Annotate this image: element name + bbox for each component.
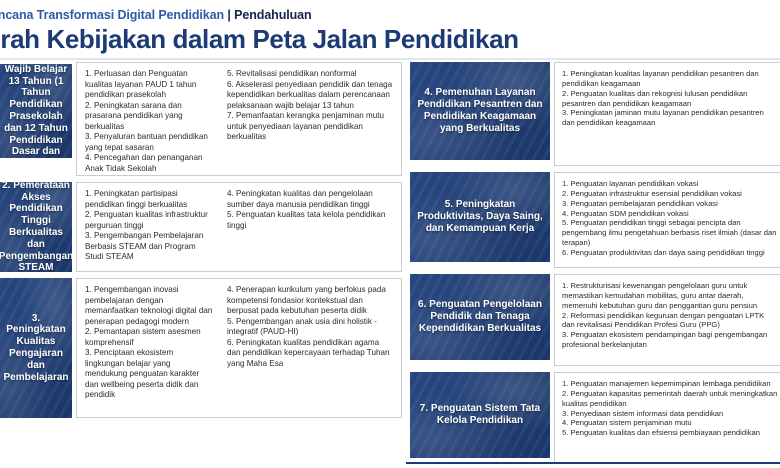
list-item: 4. Pencegahan dan penanganan Anak Tidak … [85,153,213,174]
list-item: 6. Peningkatan kualitas pendidikan agama… [227,338,393,370]
list-item: 4. Penguatan SDM pendidikan vokasi [562,209,778,219]
policy-label-text-3: 3. Peningkatan Kualitas Pengajaran dan P… [0,311,72,386]
list-item: 1. Restrukturisasi kewenangan pengelolaa… [562,281,778,311]
header-divider [0,58,780,60]
policy-points-box-2b: 4. Peningkatan kualitas dan pengelolaan … [219,182,402,272]
policy-label-box-2[interactable]: 2. Pemerataan Akses Pendidikan Tinggi Be… [0,182,72,272]
list-item: 2. Reformasi pendidikan keguruan dengan … [562,311,778,331]
policy-row-4: 4. Pemenuhan Layanan Pendidikan Pesantre… [410,62,780,166]
list-item: 1. Peningkatan kualitas layanan pendidik… [562,69,778,89]
policy-points-list-7: 1. Penguatan manajemen kepemimpinan lemb… [562,379,778,438]
policy-points-box-1a: 1. Perluasan dan Penguatan kualitas laya… [76,62,219,176]
policy-label-box-6[interactable]: 6. Penguatan Pengelolaan Pendidik dan Te… [410,274,550,360]
breadcrumb-item-2: Pendahuluan [234,8,311,22]
list-item: 3. Penciptaan ekosistem lingkungan belaj… [85,348,213,401]
list-item: 1. Penguatan manajemen kepemimpinan lemb… [562,379,778,389]
list-item: 2. Peningkatan sarana dan prasarana pend… [85,101,213,133]
list-item: 4. Peningkatan kualitas dan pengelolaan … [227,189,393,210]
policy-label-text-2: 2. Pemerataan Akses Pendidikan Tinggi Be… [0,182,72,272]
policy-points-box-5: 1. Penguatan layanan pendidikan vokasi 2… [554,172,780,268]
list-item: 3. Penyaluran bantuan pendidikan yang te… [85,132,213,153]
breadcrumb-separator: | [227,8,230,22]
policy-points-list-6: 1. Restrukturisasi kewenangan pengelolaa… [562,281,778,350]
list-item: 4. Penguatan sistem penjaminan mutu [562,418,778,428]
footer-divider [406,462,780,464]
list-item: 3. Peningkatan jaminan mutu layanan pend… [562,108,778,128]
policy-points-list-3a: 1. Pengembangan inovasi pembelajaran den… [85,285,213,401]
policy-row-3: 3. Peningkatan Kualitas Pengajaran dan P… [0,278,402,418]
list-item: 1. Pengembangan inovasi pembelajaran den… [85,285,213,327]
policy-points-box-4: 1. Peningkatan kualitas layanan pendidik… [554,62,780,166]
list-item: 3. Pengembangan Pembelajaran Berbasis ST… [85,231,213,263]
slide-root: Rencana Transformasi Digital Pendidikan … [0,0,780,468]
list-item: 6. Penguatan produktivitas dan daya sain… [562,248,778,258]
list-item: 1. Penguatan layanan pendidikan vokasi [562,179,778,189]
policy-label-box-5[interactable]: 5. Peningkatan Produktivitas, Daya Saing… [410,172,550,262]
page-title: Arah Kebijakan dalam Peta Jalan Pendidik… [0,24,780,55]
list-item: 2. Pemantapan sistem asesmen komprehensi… [85,327,213,348]
left-column: 1. Percepatan Wajib Belajar 13 Tahun (1 … [0,62,398,462]
policy-points-box-2a: 1. Peningkatan partisipasi pendidikan ti… [76,182,219,272]
list-item: 1. Perluasan dan Penguatan kualitas laya… [85,69,213,101]
policy-points-box-3a: 1. Pengembangan inovasi pembelajaran den… [76,278,219,418]
list-item: 5. Penguatan pendidikan tinggi sebagai p… [562,218,778,248]
list-item: 7. Pemanfaatan kerangka penjaminan mutu … [227,111,393,143]
policy-points-list-5: 1. Penguatan layanan pendidikan vokasi 2… [562,179,778,258]
list-item: 2. Penguatan kualitas dan rekognisi lulu… [562,89,778,109]
list-item: 2. Penguatan kapasitas pemerintah daerah… [562,389,778,409]
policy-label-box-4[interactable]: 4. Pemenuhan Layanan Pendidikan Pesantre… [410,62,550,160]
right-column: 4. Pemenuhan Layanan Pendidikan Pesantre… [410,62,780,462]
list-item: 2. Penguatan kualitas infrastruktur perg… [85,210,213,231]
breadcrumb: Rencana Transformasi Digital Pendidikan … [0,8,780,22]
policy-row-2: 2. Pemerataan Akses Pendidikan Tinggi Be… [0,182,402,272]
list-item: 5. Revitalisasi pendidikan nonformal [227,69,393,80]
list-item: 5. Pengembangan anak usia dini holistik … [227,317,393,338]
policy-points-box-1b: 5. Revitalisasi pendidikan nonformal 6. … [219,62,402,176]
policy-label-text-4: 4. Pemenuhan Layanan Pendidikan Pesantre… [410,85,550,136]
list-item: 5. Penguatan kualitas dan efsiensi pembi… [562,428,778,438]
slide-header: Rencana Transformasi Digital Pendidikan … [0,0,780,55]
list-item: 3. Penyediaan sistem informasi data pend… [562,409,778,419]
policy-label-text-7: 7. Penguatan Sistem Tata Kelola Pendidik… [410,401,550,429]
policy-label-box-1[interactable]: 1. Percepatan Wajib Belajar 13 Tahun (1 … [0,64,72,158]
list-item: 5. Penguatan kualitas tata kelola pendid… [227,210,393,231]
policy-row-6: 6. Penguatan Pengelolaan Pendidik dan Te… [410,274,780,366]
policy-label-box-3[interactable]: 3. Peningkatan Kualitas Pengajaran dan P… [0,278,72,418]
policy-points-box-7: 1. Penguatan manajemen kepemimpinan lemb… [554,372,780,464]
policy-points-list-2a: 1. Peningkatan partisipasi pendidikan ti… [85,189,213,263]
policy-points-list-2b: 4. Peningkatan kualitas dan pengelolaan … [227,189,393,231]
policy-points-box-6: 1. Restrukturisasi kewenangan pengelolaa… [554,274,780,366]
policy-row-1: 1. Percepatan Wajib Belajar 13 Tahun (1 … [0,62,402,176]
policy-row-7: 7. Penguatan Sistem Tata Kelola Pendidik… [410,372,780,464]
policy-label-text-5: 5. Peningkatan Produktivitas, Daya Saing… [410,197,550,236]
policy-points-list-3b: 4. Penerapan kurikulum yang berfokus pad… [227,285,393,369]
list-item: 2. Penguatan infrastruktur esensial pend… [562,189,778,199]
list-item: 1. Peningkatan partisipasi pendidikan ti… [85,189,213,210]
policy-points-list-1b: 5. Revitalisasi pendidikan nonformal 6. … [227,69,393,143]
policy-label-text-1: 1. Percepatan Wajib Belajar 13 Tahun (1 … [0,64,72,158]
breadcrumb-item-1: Rencana Transformasi Digital Pendidikan [0,8,224,22]
list-item: 3. Penguatan ekosistem pendampingan bagi… [562,330,778,350]
policy-points-list-1a: 1. Perluasan dan Penguatan kualitas laya… [85,69,213,174]
list-item: 4. Penerapan kurikulum yang berfokus pad… [227,285,393,317]
list-item: 3. Penguatan pembelajaran pendidikan vok… [562,199,778,209]
policy-row-5: 5. Peningkatan Produktivitas, Daya Saing… [410,172,780,268]
list-item: 6. Akselerasi penyediaan pendidik dan te… [227,80,393,112]
policy-label-box-7[interactable]: 7. Penguatan Sistem Tata Kelola Pendidik… [410,372,550,458]
policy-points-box-3b: 4. Penerapan kurikulum yang berfokus pad… [219,278,402,418]
policy-label-text-6: 6. Penguatan Pengelolaan Pendidik dan Te… [410,297,550,336]
policy-points-list-4: 1. Peningkatan kualitas layanan pendidik… [562,69,778,128]
